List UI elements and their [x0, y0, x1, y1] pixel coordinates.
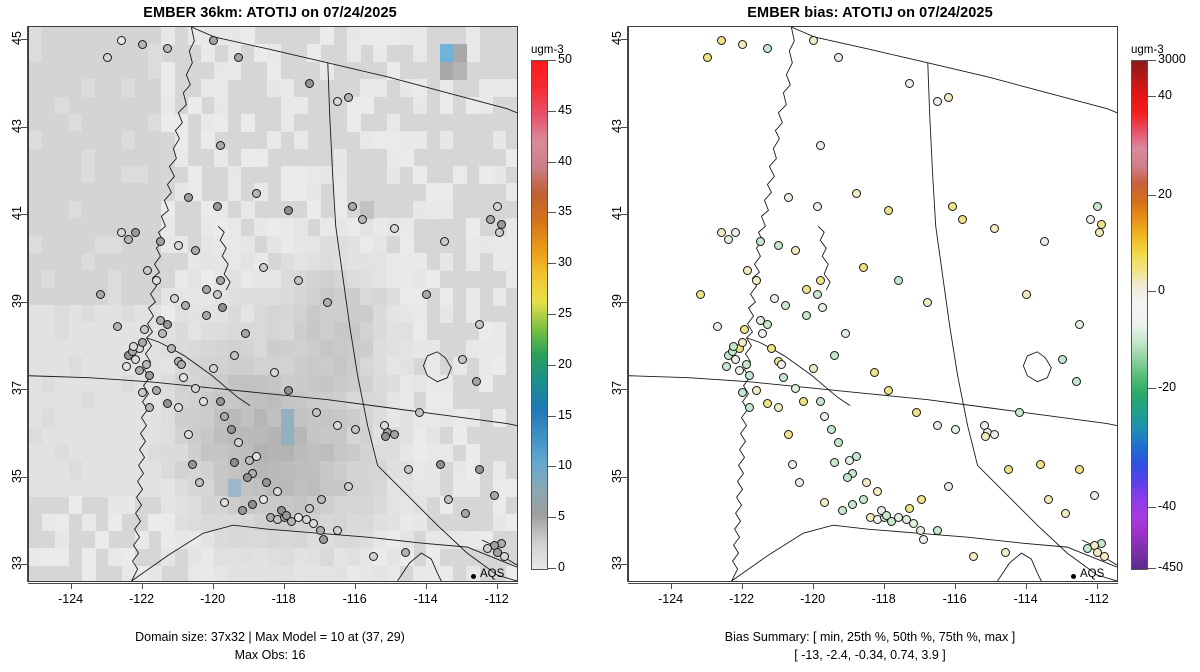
aqs-site-marker: [813, 202, 822, 211]
aqs-site-marker: [731, 228, 740, 237]
aqs-site-marker: [351, 425, 360, 434]
aqs-site-marker: [181, 301, 190, 310]
aqs-site-marker: [135, 366, 144, 375]
colorbar-tick-label: 0: [1158, 283, 1165, 297]
colorbar-tick: [1148, 568, 1156, 569]
aqs-site-marker: [458, 355, 467, 364]
x-tick-label: -112: [477, 592, 517, 606]
colorbar-tick-label: 45: [558, 103, 572, 117]
aqs-site-marker: [131, 355, 140, 364]
aqs-site-marker: [917, 495, 926, 504]
caption-line2-model: Max Obs: 16: [0, 648, 540, 662]
aqs-site-marker: [220, 412, 229, 421]
caption-line1-bias: Bias Summary: [ min, 25th %, 50th %, 75t…: [600, 630, 1140, 644]
panel-title-bias: EMBER bias: ATOTIJ on 07/24/2025: [600, 5, 1140, 21]
aqs-site-marker: [1072, 377, 1081, 386]
colorbar-tick-label: 25: [558, 306, 572, 320]
colorbar-tick: [548, 568, 556, 569]
aqs-site-marker: [262, 478, 271, 487]
aqs-site-marker: [834, 53, 843, 62]
aqs-site-marker: [791, 384, 800, 393]
x-tick-label: -114: [1006, 592, 1046, 606]
x-tick: [813, 583, 814, 589]
aqs-site-marker: [490, 491, 499, 500]
colorbar-tick-label: 5: [558, 509, 565, 523]
y-axis-line: [27, 26, 28, 582]
y-tick-label: 41: [610, 198, 624, 228]
aqs-site-marker: [777, 360, 786, 369]
colorbar-tick-label: 40: [558, 154, 572, 168]
aqs-site-marker: [493, 202, 502, 211]
aqs-site-marker: [138, 338, 147, 347]
aqs-site-marker: [333, 421, 342, 430]
aqs-site-marker: [209, 36, 218, 45]
aqs-site-marker: [344, 93, 353, 102]
aqs-site-marker: [933, 97, 942, 106]
aqs-site-marker: [282, 511, 291, 520]
aqs-site-marker: [140, 325, 149, 334]
y-tick-label: 39: [10, 286, 24, 316]
aqs-site-marker: [220, 498, 229, 507]
aqs-site-marker: [138, 388, 147, 397]
x-tick: [1097, 583, 1098, 589]
aqs-site-marker: [390, 224, 399, 233]
colorbar-tick: [1148, 291, 1156, 292]
colorbar-tick-label: 0: [558, 560, 565, 574]
aqs-site-marker: [174, 241, 183, 250]
aqs-site-marker: [745, 371, 754, 380]
aqs-site-marker: [305, 504, 314, 513]
aqs-site-marker: [884, 206, 893, 215]
aqs-site-marker: [1022, 290, 1031, 299]
aqs-site-marker: [784, 430, 793, 439]
colorbar-bias: [1131, 60, 1148, 570]
aqs-site-marker: [884, 386, 893, 395]
aqs-site-marker: [227, 425, 236, 434]
aqs-site-marker: [848, 500, 857, 509]
colorbar-tick-label: -20: [1158, 380, 1176, 394]
aqs-site-marker: [813, 290, 822, 299]
aqs-site-marker: [1086, 215, 1095, 224]
aqs-site-marker: [444, 495, 453, 504]
aqs-site-marker: [312, 408, 321, 417]
aqs-site-marker: [763, 44, 772, 53]
aqs-site-marker: [752, 386, 761, 395]
aqs-site-marker: [218, 303, 227, 312]
aqs-site-marker: [238, 506, 247, 515]
y-tick-label: 37: [10, 373, 24, 403]
aqs-site-marker: [333, 526, 342, 535]
aqs-site-marker: [923, 298, 932, 307]
x-tick: [1026, 583, 1027, 589]
aqs-site-marker: [138, 40, 147, 49]
x-tick: [955, 583, 956, 589]
aqs-site-marker: [738, 388, 747, 397]
aqs-site-marker: [1058, 355, 1067, 364]
aqs-site-marker: [152, 276, 161, 285]
colorbar-tick: [548, 517, 556, 518]
aqs-site-marker: [948, 202, 957, 211]
aqs-site-marker: [763, 399, 772, 408]
x-tick: [426, 583, 427, 589]
colorbar-tick: [548, 111, 556, 112]
aqs-site-marker: [381, 432, 390, 441]
colorbar-tick: [1148, 60, 1156, 61]
colorbar-tick: [1148, 96, 1156, 97]
aqs-site-marker: [152, 386, 161, 395]
aqs-site-marker: [843, 473, 852, 482]
aqs-site-marker: [319, 535, 328, 544]
aqs-site-marker: [731, 355, 740, 364]
aqs-site-marker: [919, 535, 928, 544]
aqs-site-marker: [294, 276, 303, 285]
aqs-site-marker: [202, 285, 211, 294]
aqs-site-marker: [916, 526, 925, 535]
aqs-site-marker: [696, 290, 705, 299]
x-tick: [71, 583, 72, 589]
aqs-site-marker: [500, 552, 509, 561]
aqs-site-marker: [284, 206, 293, 215]
aqs-site-marker: [248, 500, 257, 509]
aqs-site-marker: [213, 202, 222, 211]
aqs-site-marker: [1040, 237, 1049, 246]
aqs-site-marker: [483, 544, 492, 553]
aqs-site-marker: [816, 397, 825, 406]
aqs-site-marker: [1044, 495, 1053, 504]
aqs-site-marker: [475, 320, 484, 329]
colorbar-tick: [548, 365, 556, 366]
x-tick: [884, 583, 885, 589]
aqs-site-marker: [802, 311, 811, 320]
aqs-site-marker: [894, 276, 903, 285]
y-tick-label: 41: [10, 198, 24, 228]
x-tick-label: -118: [264, 592, 304, 606]
aqs-site-marker: [838, 506, 847, 515]
colorbar-tick: [1148, 388, 1156, 389]
aqs-site-marker: [944, 482, 953, 491]
colorbar-tick-label: 15: [558, 408, 572, 422]
aqs-site-marker: [170, 294, 179, 303]
x-tick-label: -114: [406, 592, 446, 606]
y-tick-label: 43: [610, 111, 624, 141]
aqs-site-marker: [163, 44, 172, 53]
x-tick: [671, 583, 672, 589]
aqs-site-marker: [784, 193, 793, 202]
colorbar-tick: [548, 212, 556, 213]
colorbar-tick: [548, 263, 556, 264]
aqs-site-marker: [738, 338, 747, 347]
aqs-site-marker: [213, 290, 222, 299]
aqs-site-marker: [738, 40, 747, 49]
aqs-site-marker: [944, 93, 953, 102]
aqs-site-marker: [216, 397, 225, 406]
aqs-site-marker: [882, 511, 891, 520]
aqs-site-marker: [820, 412, 829, 421]
aqs-site-marker: [809, 36, 818, 45]
aqs-site-marker: [486, 215, 495, 224]
x-axis-line: [628, 583, 1118, 584]
aqs-site-marker: [1093, 202, 1102, 211]
aqs-site-marker: [202, 311, 211, 320]
colorbar-tick-label: 10: [558, 458, 572, 472]
aqs-site-marker: [1061, 509, 1070, 518]
aqs-site-marker: [951, 425, 960, 434]
aqs-site-marker: [179, 373, 188, 382]
aqs-site-marker: [188, 460, 197, 469]
aqs-site-marker: [781, 301, 790, 310]
x-tick-label: -116: [335, 592, 375, 606]
figure-root: EMBER 36km: ATOTIJ on 07/24/2025: [0, 0, 1200, 672]
x-tick: [142, 583, 143, 589]
aqs-site-marker: [158, 329, 167, 338]
aqs-site-marker: [131, 228, 140, 237]
aqs-site-marker: [305, 79, 314, 88]
aqs-site-marker: [344, 482, 353, 491]
aqs-site-marker: [852, 452, 861, 461]
aqs-site-marker: [122, 362, 131, 371]
aqs-site-markers-bias: [629, 27, 1117, 581]
y-tick-label: 45: [10, 23, 24, 53]
aqs-site-marker: [743, 266, 752, 275]
y-tick-label: 37: [610, 373, 624, 403]
aqs-site-marker: [440, 237, 449, 246]
aqs-site-marker: [156, 237, 165, 246]
aqs-site-marker: [862, 478, 871, 487]
aqs-site-marker: [1075, 465, 1084, 474]
aqs-site-marker: [145, 371, 154, 380]
caption-line2-bias: [ -13, -2.4, -0.34, 0.74, 3.9 ]: [600, 648, 1140, 662]
aqs-legend-label-bias: AQS: [1080, 568, 1104, 580]
aqs-site-marker: [820, 498, 829, 507]
y-tick-label: 35: [610, 461, 624, 491]
aqs-site-marker: [415, 408, 424, 417]
aqs-site-marker: [230, 458, 239, 467]
aqs-site-marker: [1015, 408, 1024, 417]
aqs-site-marker: [145, 403, 154, 412]
aqs-site-marker: [799, 397, 808, 406]
x-tick-label: -118: [864, 592, 904, 606]
y-tick-label: 39: [610, 286, 624, 316]
aqs-site-marker: [809, 364, 818, 373]
colorbar-tick-label: 35: [558, 204, 572, 218]
aqs-site-marker: [763, 320, 772, 329]
x-tick-label: -124: [651, 592, 691, 606]
aqs-site-marker: [259, 495, 268, 504]
x-tick: [497, 583, 498, 589]
aqs-site-marker: [722, 362, 731, 371]
aqs-site-marker: [713, 322, 722, 331]
colorbar-tick: [548, 162, 556, 163]
colorbar-tick: [1148, 195, 1156, 196]
aqs-site-markers-model: [29, 27, 517, 581]
x-tick-label: -122: [122, 592, 162, 606]
aqs-site-marker: [830, 458, 839, 467]
aqs-site-marker: [905, 504, 914, 513]
aqs-site-marker: [870, 368, 879, 377]
panel-title-model: EMBER 36km: ATOTIJ on 07/24/2025: [0, 5, 540, 21]
aqs-site-marker: [735, 366, 744, 375]
colorbar-tick: [548, 416, 556, 417]
panel-model: EMBER 36km: ATOTIJ on 07/24/2025: [0, 0, 600, 672]
aqs-site-marker: [770, 294, 779, 303]
aqs-site-marker: [230, 351, 239, 360]
aqs-site-marker: [475, 465, 484, 474]
x-tick: [742, 583, 743, 589]
aqs-site-marker: [818, 303, 827, 312]
aqs-site-marker: [390, 430, 399, 439]
y-axis-line: [627, 26, 628, 582]
aqs-site-marker: [752, 276, 761, 285]
aqs-site-marker: [1036, 460, 1045, 469]
aqs-site-marker: [1075, 320, 1084, 329]
x-tick: [284, 583, 285, 589]
y-tick-label: 33: [610, 548, 624, 578]
aqs-site-marker: [401, 548, 410, 557]
aqs-site-marker: [1095, 228, 1104, 237]
map-plot-model: [28, 26, 518, 582]
aqs-site-marker: [774, 403, 783, 412]
aqs-site-marker: [816, 276, 825, 285]
aqs-site-marker: [834, 438, 843, 447]
aqs-site-marker: [348, 202, 357, 211]
aqs-site-marker: [252, 452, 261, 461]
aqs-site-marker: [852, 189, 861, 198]
aqs-site-marker: [174, 403, 183, 412]
y-tick-label: 43: [10, 111, 24, 141]
colorbar-tick: [548, 60, 556, 61]
aqs-site-marker: [461, 509, 470, 518]
x-axis-line: [28, 583, 518, 584]
caption-line1-model: Domain size: 37x32 | Max Model = 10 at (…: [0, 630, 540, 644]
aqs-site-marker: [209, 364, 218, 373]
aqs-site-marker: [969, 552, 978, 561]
colorbar-tick-label: 20: [558, 357, 572, 371]
aqs-site-marker: [791, 246, 800, 255]
colorbar-tick: [548, 314, 556, 315]
colorbar-tick-label: 3000: [1158, 52, 1186, 66]
aqs-site-marker: [216, 276, 225, 285]
aqs-site-marker: [369, 552, 378, 561]
colorbar-model: [531, 60, 548, 570]
aqs-site-marker: [191, 384, 200, 393]
aqs-site-marker: [981, 432, 990, 441]
aqs-site-marker: [717, 36, 726, 45]
aqs-site-marker: [216, 141, 225, 150]
aqs-site-marker: [177, 360, 186, 369]
aqs-site-marker: [270, 368, 279, 377]
x-tick-label: -112: [1077, 592, 1117, 606]
aqs-site-marker: [316, 526, 325, 535]
aqs-site-marker: [758, 329, 767, 338]
aqs-site-marker: [774, 241, 783, 250]
colorbar-tick: [548, 466, 556, 467]
x-tick-label: -120: [793, 592, 833, 606]
aqs-site-marker: [333, 97, 342, 106]
aqs-site-marker: [703, 53, 712, 62]
colorbar-tick-label: 20: [1158, 187, 1172, 201]
aqs-site-marker: [317, 495, 326, 504]
colorbar-tick-label: -40: [1158, 499, 1176, 513]
aqs-site-marker: [252, 189, 261, 198]
aqs-site-marker: [827, 425, 836, 434]
x-tick-label: -120: [193, 592, 233, 606]
aqs-site-marker: [802, 285, 811, 294]
aqs-site-marker: [163, 320, 172, 329]
aqs-site-marker: [912, 408, 921, 417]
aqs-site-marker: [1004, 465, 1013, 474]
aqs-site-marker: [830, 351, 839, 360]
colorbar-tick: [1148, 507, 1156, 508]
aqs-site-marker: [323, 298, 332, 307]
aqs-site-marker: [841, 329, 850, 338]
aqs-site-marker: [740, 325, 749, 334]
aqs-site-marker: [436, 460, 445, 469]
aqs-site-marker: [184, 193, 193, 202]
aqs-site-marker: [358, 215, 367, 224]
aqs-site-marker: [1090, 491, 1099, 500]
aqs-site-marker: [873, 487, 882, 496]
aqs-site-marker: [273, 487, 282, 496]
colorbar-tick-label: 40: [1158, 88, 1172, 102]
aqs-site-marker: [143, 266, 152, 275]
y-tick-label: 35: [10, 461, 24, 491]
aqs-site-marker: [933, 526, 942, 535]
aqs-site-marker: [259, 263, 268, 272]
aqs-site-marker: [243, 473, 252, 482]
aqs-site-marker: [124, 235, 133, 244]
y-tick-label: 33: [10, 548, 24, 578]
aqs-site-marker: [191, 246, 200, 255]
aqs-site-marker: [472, 377, 481, 386]
aqs-site-marker: [234, 438, 243, 447]
aqs-site-marker: [990, 430, 999, 439]
aqs-site-marker: [958, 215, 967, 224]
y-tick-label: 45: [610, 23, 624, 53]
x-tick-label: -116: [935, 592, 975, 606]
aqs-site-marker: [495, 228, 504, 237]
aqs-site-marker: [184, 430, 193, 439]
aqs-site-marker: [241, 329, 250, 338]
panel-bias: EMBER bias: ATOTIJ on 07/24/2025: [600, 0, 1200, 672]
aqs-site-marker: [1001, 548, 1010, 557]
aqs-site-marker: [284, 386, 293, 395]
aqs-site-marker: [779, 373, 788, 382]
aqs-site-marker: [195, 478, 204, 487]
aqs-site-marker: [167, 344, 176, 353]
aqs-site-marker: [756, 237, 765, 246]
aqs-site-marker: [103, 53, 112, 62]
aqs-site-marker: [96, 290, 105, 299]
aqs-site-marker: [745, 403, 754, 412]
aqs-site-marker: [404, 465, 413, 474]
x-tick: [355, 583, 356, 589]
colorbar-tick-label: 30: [558, 255, 572, 269]
colorbar-tick-label: 50: [558, 52, 572, 66]
aqs-site-marker: [767, 344, 776, 353]
aqs-legend-label-model: AQS: [480, 568, 504, 580]
aqs-site-marker: [795, 478, 804, 487]
aqs-site-marker: [422, 290, 431, 299]
aqs-site-marker: [788, 460, 797, 469]
colorbar-tick-label: -450: [1158, 560, 1183, 574]
aqs-site-marker: [199, 397, 208, 406]
aqs-site-marker: [1097, 220, 1106, 229]
aqs-site-marker: [497, 220, 506, 229]
x-tick-label: -124: [51, 592, 91, 606]
aqs-site-marker: [816, 141, 825, 150]
aqs-site-marker: [1100, 552, 1109, 561]
aqs-site-marker: [905, 79, 914, 88]
